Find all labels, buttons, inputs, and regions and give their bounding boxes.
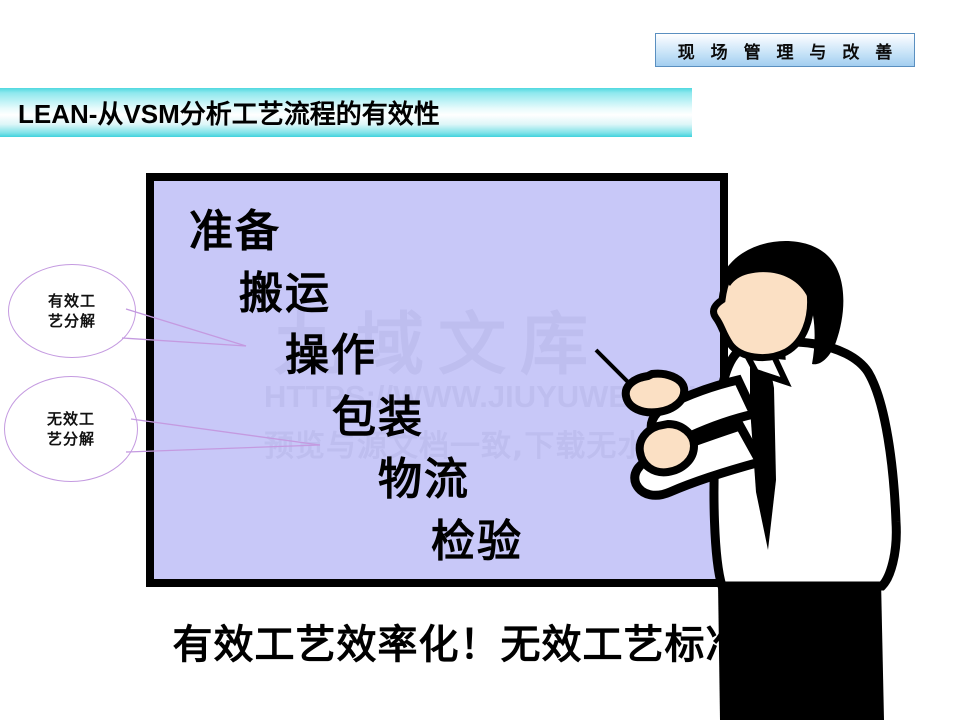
presenter-hand-gesture	[626, 374, 684, 413]
process-step-2: 搬运	[239, 257, 331, 321]
slide-caption: 有效工艺效率化！无效工艺标准化	[0, 612, 960, 670]
slide-canvas: 现 场 管 理 与 改 善 LEAN-从VSM分析工艺流程的有效性 九域文库 H…	[0, 0, 960, 720]
callout-effective-process[interactable]: 有效工 艺分解	[8, 264, 136, 358]
callout-ineffective-line1: 无效工	[47, 410, 95, 428]
page-title: LEAN-从VSM分析工艺流程的有效性	[0, 94, 440, 131]
callout-ineffective-process[interactable]: 无效工 艺分解	[4, 376, 138, 482]
process-step-1: 准备	[189, 195, 281, 259]
callout-effective-line2: 艺分解	[48, 312, 96, 330]
process-step-5: 物流	[378, 443, 470, 507]
process-step-6: 检验	[431, 505, 523, 569]
slide-title-bar: LEAN-从VSM分析工艺流程的有效性	[0, 88, 692, 137]
presenter-hand-pointer	[640, 424, 694, 472]
header-badge-label: 现 场 管 理 与 改 善	[673, 38, 898, 63]
process-step-3: 操作	[285, 319, 377, 383]
callout-ineffective-line2: 艺分解	[47, 430, 95, 448]
process-step-4: 包装	[332, 381, 424, 445]
callout-effective-label: 有效工 艺分解	[48, 291, 96, 332]
callout-ineffective-label: 无效工 艺分解	[47, 409, 95, 450]
callout-effective-line1: 有效工	[48, 292, 96, 310]
header-badge: 现 场 管 理 与 改 善	[655, 33, 915, 67]
